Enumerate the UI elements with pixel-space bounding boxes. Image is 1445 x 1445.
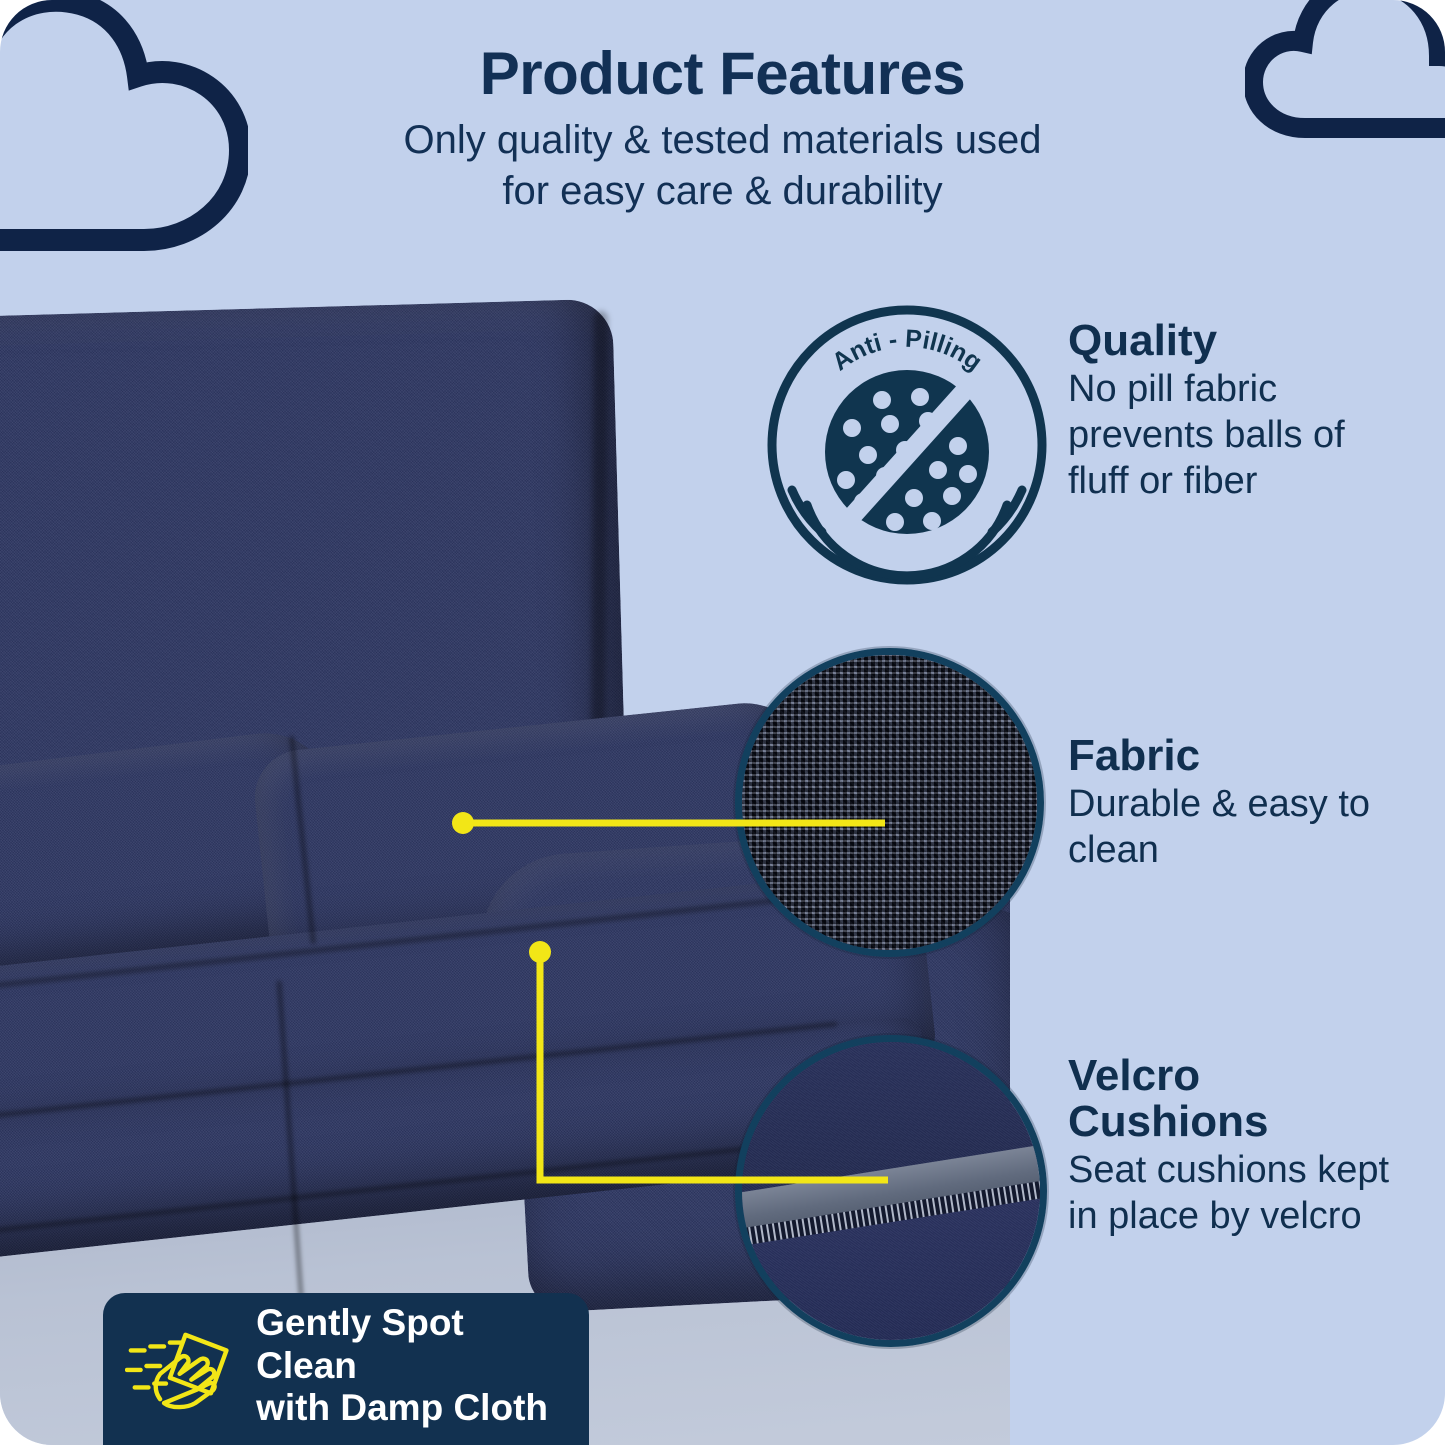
anti-pilling-badge-icon: Anti - Pilling xyxy=(762,300,1052,590)
page-subtitle: Only quality & tested materials used for… xyxy=(0,115,1445,217)
feature-fabric: Fabric Durable & easy to clean xyxy=(1068,733,1408,873)
hand-wiping-cloth-icon xyxy=(125,1316,240,1416)
infographic-canvas: Product Features Only quality & tested m… xyxy=(0,0,1445,1445)
page-title: Product Features xyxy=(0,42,1445,105)
velcro-closeup-circle xyxy=(735,1035,1047,1347)
feature-body: Seat cushions kept in place by velcro xyxy=(1068,1147,1408,1240)
feature-body: No pill fabric prevents balls of fluff o… xyxy=(1068,366,1408,505)
feature-title: Fabric xyxy=(1068,733,1408,779)
care-instruction-badge: Gently Spot Clean with Damp Cloth xyxy=(103,1293,589,1445)
care-line-2: with Damp Cloth xyxy=(256,1387,548,1428)
feature-quality: Quality No pill fabric prevents balls of… xyxy=(1068,318,1408,505)
fabric-closeup-circle xyxy=(735,648,1044,957)
fabric-weave-texture xyxy=(742,655,1037,950)
header: Product Features Only quality & tested m… xyxy=(0,42,1445,217)
feature-velcro: Velcro Cushions Seat cushions kept in pl… xyxy=(1068,1053,1408,1239)
subtitle-line-1: Only quality & tested materials used xyxy=(403,118,1041,162)
feature-body: Durable & easy to clean xyxy=(1068,781,1408,874)
subtitle-line-2: for easy care & durability xyxy=(502,169,942,213)
feature-title: Velcro Cushions xyxy=(1068,1053,1408,1145)
care-instruction-text: Gently Spot Clean with Damp Cloth xyxy=(256,1302,567,1430)
badge-label: Anti - Pilling xyxy=(827,325,987,377)
feature-title: Quality xyxy=(1068,318,1408,364)
care-line-1: Gently Spot Clean xyxy=(256,1302,464,1386)
